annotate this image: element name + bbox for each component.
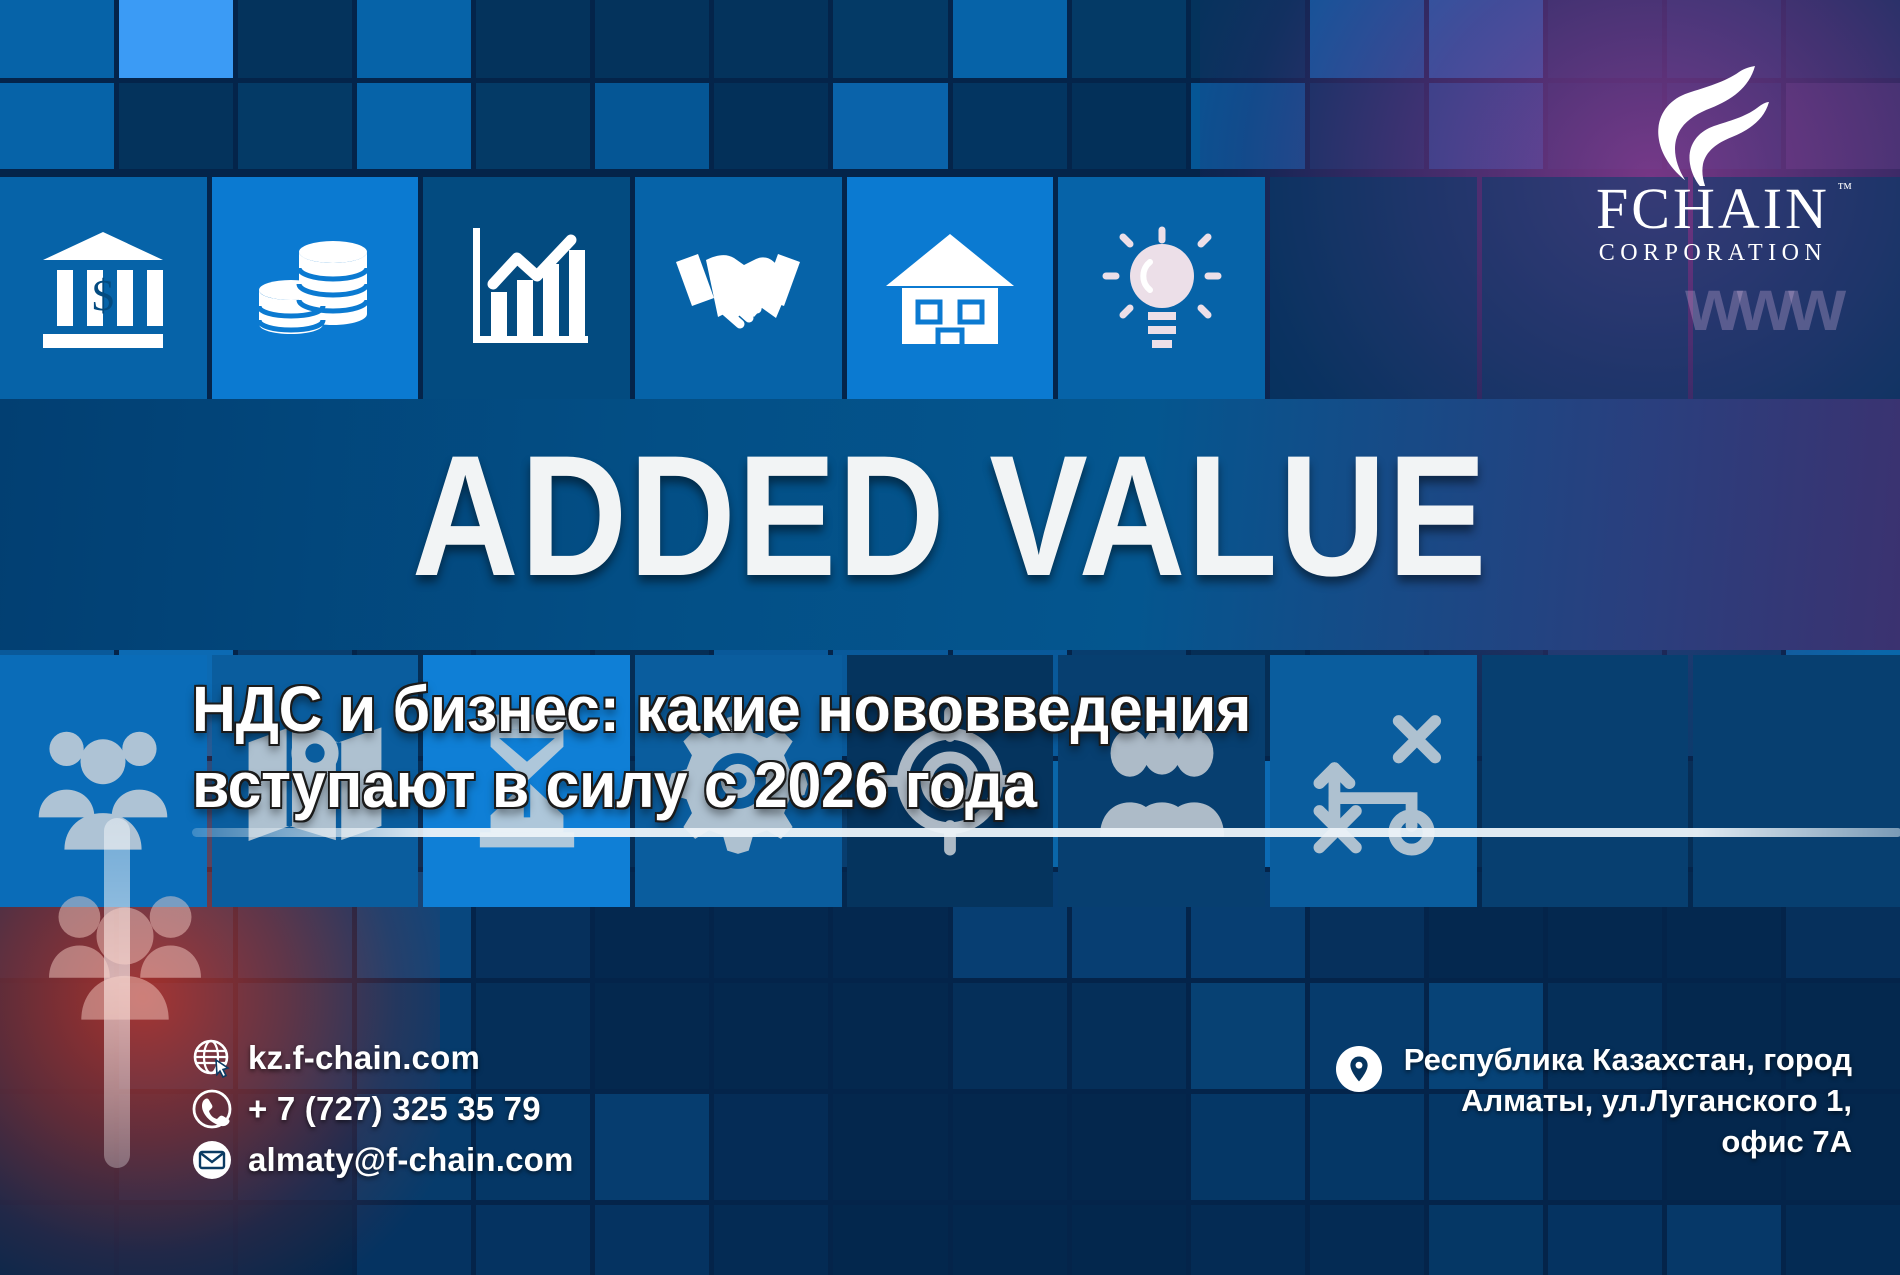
contact-phone[interactable]: + 7 (727) 325 35 79 <box>192 1089 574 1129</box>
mosaic-cell <box>238 0 352 78</box>
mosaic-cell <box>1429 83 1543 169</box>
mosaic-cell <box>476 1205 590 1275</box>
mosaic-cell <box>953 0 1067 78</box>
address-line: Алматы, ул.Луганского 1, <box>1404 1081 1852 1122</box>
mosaic-cell <box>1191 983 1305 1089</box>
contact-list: kz.f-chain.com+ 7 (727) 325 35 79almaty@… <box>192 1038 574 1180</box>
mosaic-cell <box>1072 0 1186 78</box>
mosaic-cell <box>119 83 233 169</box>
mosaic-cell <box>714 0 828 78</box>
banner-root: $ ADDED VALUE НДС и бизнес: какие нововв… <box>0 0 1900 1275</box>
mosaic-cell <box>714 1094 828 1200</box>
address-line: Республика Казахстан, город <box>1404 1040 1852 1081</box>
mosaic-cell <box>0 0 114 78</box>
icon-tile-empty <box>1693 655 1900 907</box>
house-icon <box>880 218 1020 358</box>
mosaic-cell <box>833 1205 947 1275</box>
company-logo: FCHAIN ™ CORPORATION <box>1588 62 1838 267</box>
mosaic-cell <box>357 83 471 169</box>
mosaic-cell <box>1191 1205 1305 1275</box>
mosaic-cell <box>833 983 947 1089</box>
mosaic-cell <box>714 983 828 1089</box>
mosaic-cell <box>476 83 590 169</box>
mosaic-cell <box>0 1094 114 1200</box>
mosaic-cell <box>953 1205 1067 1275</box>
mosaic-cell <box>357 1205 471 1275</box>
mosaic-cell <box>833 0 947 78</box>
brand-name-wrap: FCHAIN ™ <box>1596 180 1830 238</box>
mosaic-cell <box>238 1205 352 1275</box>
mosaic-cell <box>1786 1205 1900 1275</box>
icon-tile-handshake <box>635 177 842 399</box>
people-group-icon <box>28 706 178 856</box>
page-title: ADDED VALUE <box>133 430 1767 602</box>
mosaic-cell <box>595 1094 709 1200</box>
mosaic-cell <box>595 83 709 169</box>
mosaic-cell <box>1667 1205 1781 1275</box>
lightbulb-icon <box>1092 218 1232 358</box>
icon-tile-empty <box>1482 655 1689 907</box>
mosaic-cell <box>0 1205 114 1275</box>
mosaic-cell <box>1310 1205 1424 1275</box>
mosaic-cell <box>833 83 947 169</box>
phone-icon <box>192 1089 232 1129</box>
mosaic-cell <box>714 83 828 169</box>
mosaic-cell <box>595 0 709 78</box>
contact-phone-label: + 7 (727) 325 35 79 <box>248 1090 541 1128</box>
map-pin-icon <box>1336 1046 1382 1092</box>
mosaic-cell <box>1191 83 1305 169</box>
address-lines: Республика Казахстан, городАлматы, ул.Лу… <box>1404 1040 1852 1163</box>
contact-website-label: kz.f-chain.com <box>248 1039 480 1077</box>
mosaic-cell <box>1191 0 1305 78</box>
separator-line <box>192 828 1900 837</box>
icon-tile-empty-tile <box>1270 177 1477 399</box>
mosaic-cell <box>1429 1205 1543 1275</box>
mosaic-cell <box>1191 1094 1305 1200</box>
mosaic-cell <box>119 1205 233 1275</box>
mosaic-cell <box>1548 1205 1662 1275</box>
article-headline: НДС и бизнес: какие нововведения вступаю… <box>192 672 1351 823</box>
mosaic-cell <box>119 0 233 78</box>
mosaic-cell <box>357 0 471 78</box>
envelope-icon <box>192 1140 232 1180</box>
handshake-icon <box>668 218 808 358</box>
icon-tile-coins <box>212 177 419 399</box>
mosaic-cell <box>0 83 114 169</box>
brand-name: FCHAIN <box>1596 176 1830 241</box>
mosaic-cell <box>476 0 590 78</box>
mosaic-cell <box>1072 1205 1186 1275</box>
mosaic-cell <box>1429 0 1543 78</box>
mosaic-cell <box>1310 83 1424 169</box>
contact-email-label: almaty@f-chain.com <box>248 1141 574 1179</box>
mosaic-cell <box>238 83 352 169</box>
contact-email[interactable]: almaty@f-chain.com <box>192 1140 574 1180</box>
icon-tile-people-group <box>0 655 207 907</box>
bar-chart-icon <box>457 218 597 358</box>
flame-logo-icon <box>1643 62 1783 186</box>
mosaic-cell <box>0 983 114 1089</box>
contact-website[interactable]: kz.f-chain.com <box>192 1038 574 1078</box>
mosaic-cell <box>714 1205 828 1275</box>
address-line: офис 7А <box>1404 1122 1852 1163</box>
globe-cursor-icon <box>192 1038 232 1078</box>
coins-icon <box>245 218 385 358</box>
address-block: Республика Казахстан, городАлматы, ул.Лу… <box>1336 1040 1852 1163</box>
mosaic-cell <box>1072 83 1186 169</box>
icon-tile-bank: $ <box>0 177 207 399</box>
svg-text:$: $ <box>92 271 114 320</box>
mosaic-cell <box>1072 1094 1186 1200</box>
mosaic-cell <box>953 1094 1067 1200</box>
brand-subtitle: CORPORATION <box>1588 240 1838 267</box>
icon-tile-bar-chart <box>423 177 630 399</box>
mosaic-cell <box>1310 0 1424 78</box>
icon-tile-house <box>847 177 1054 399</box>
mosaic-cell <box>833 1094 947 1200</box>
icon-tile-lightbulb <box>1058 177 1265 399</box>
bank-icon: $ <box>33 218 173 358</box>
mosaic-cell <box>595 1205 709 1275</box>
mosaic-cell <box>953 983 1067 1089</box>
mosaic-cell <box>953 83 1067 169</box>
mosaic-cell <box>595 983 709 1089</box>
trademark-symbol: ™ <box>1837 182 1852 197</box>
mosaic-cell <box>1072 983 1186 1089</box>
